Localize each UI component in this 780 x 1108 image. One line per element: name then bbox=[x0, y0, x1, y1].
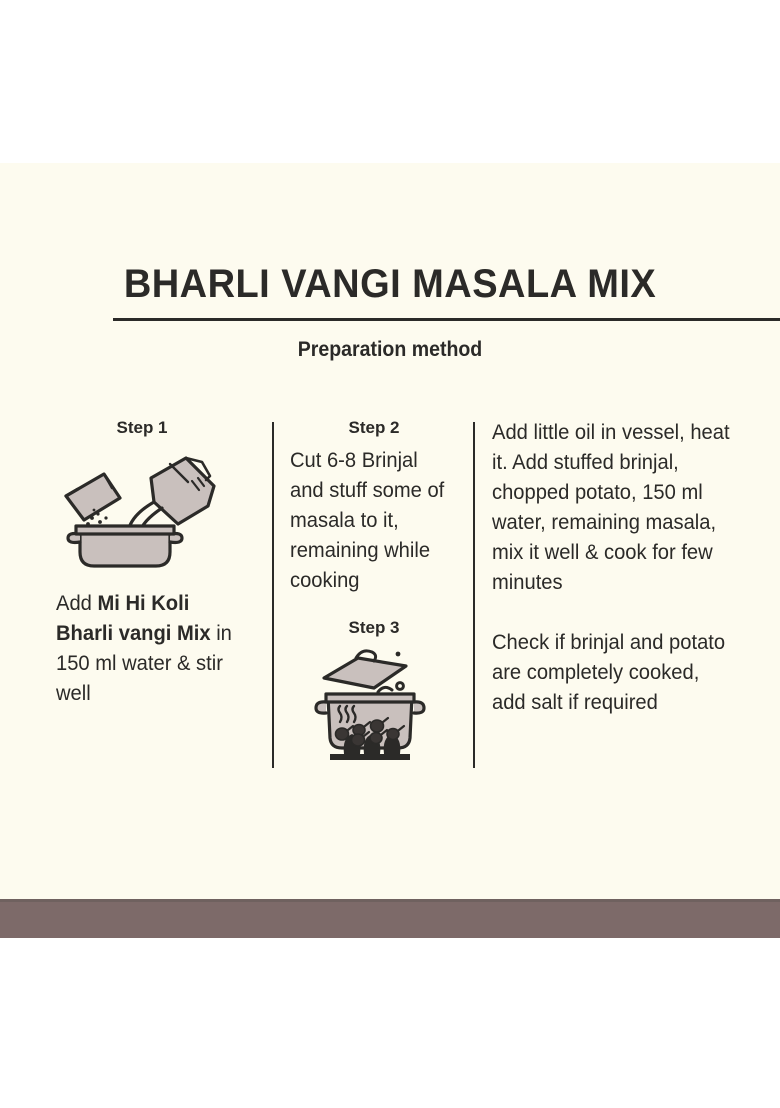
instruction-paragraph-1: Add little oil in vessel, heat it. Add s… bbox=[492, 418, 732, 598]
instruction-paragraph-2: Check if brinjal and potato are complete… bbox=[492, 628, 732, 718]
covered-cooking-pot-on-stove-icon bbox=[314, 644, 458, 769]
page-subtitle: Preparation method bbox=[27, 338, 752, 362]
title-divider bbox=[113, 318, 780, 321]
bottom-color-bar bbox=[0, 899, 780, 938]
step-1-column: Step 1 bbox=[56, 418, 256, 709]
recipe-card: BHARLI VANGI MASALA MIX Preparation meth… bbox=[0, 0, 780, 1108]
bottom-bar-top-shade bbox=[0, 899, 780, 902]
pot-with-sachet-and-jug-pouring-icon bbox=[58, 448, 256, 575]
step-2-text: Cut 6-8 Brinjal and stuff some of masala… bbox=[290, 446, 451, 596]
page-title: BHARLI VANGI MASALA MIX bbox=[20, 262, 761, 307]
step-2-label: Step 2 bbox=[290, 418, 458, 438]
step-3-label: Step 3 bbox=[290, 618, 458, 638]
column-divider-1 bbox=[272, 422, 274, 768]
step-1-label: Step 1 bbox=[62, 418, 222, 438]
step-1-text: Add Mi Hi Koli Bharli vangi Mix in 150 m… bbox=[56, 589, 248, 709]
step-1-text-lead: Add bbox=[56, 592, 97, 615]
column-divider-2 bbox=[473, 422, 475, 768]
instructions-column: Add little oil in vessel, heat it. Add s… bbox=[492, 418, 742, 718]
step-2-column: Step 2 Cut 6-8 Brinjal and stuff some of… bbox=[290, 418, 458, 769]
